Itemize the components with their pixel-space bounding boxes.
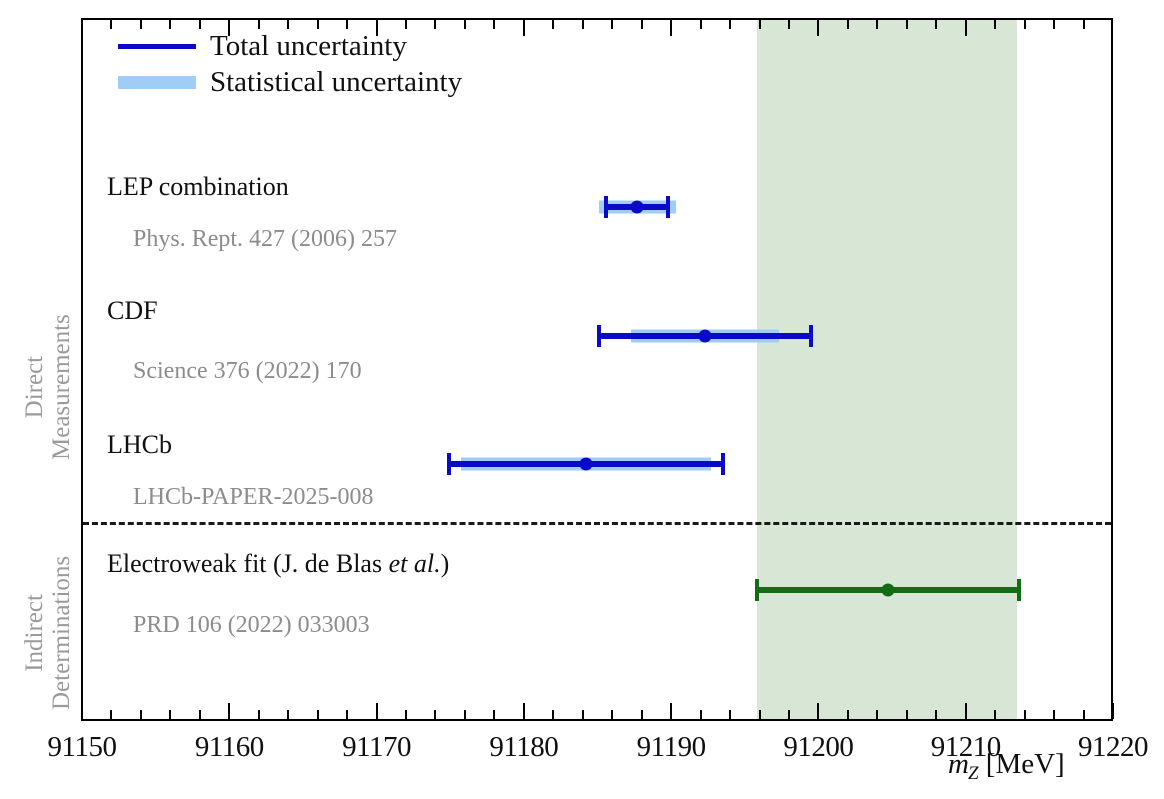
errorbar-cap-high-cdf [809,325,813,347]
errorbar-cap-low-ewfit [755,579,759,601]
minor-tick-bottom [258,710,260,719]
data-point-marker-lep[interactable] [631,201,644,214]
minor-tick-top [759,20,761,29]
major-tick-top [670,20,672,36]
x-tick-label: 91200 [783,731,853,764]
minor-tick-top [935,20,937,29]
minor-tick-bottom [759,710,761,719]
measurement-reference-ewfit: PRD 106 (2022) 033003 [133,612,370,639]
minor-tick-top [611,20,613,29]
minor-tick-bottom [876,710,878,719]
minor-tick-bottom [317,710,319,719]
measurement-name-lhcb: LHCb [107,430,172,460]
major-tick-bottom [965,703,967,719]
minor-tick-bottom [405,710,407,719]
minor-tick-top [700,20,702,29]
minor-tick-bottom [641,710,643,719]
minor-tick-bottom [169,710,171,719]
minor-tick-top [641,20,643,29]
errorbar-cap-high-lhcb [721,453,725,475]
minor-tick-bottom [788,710,790,719]
errorbar-cap-low-cdf [597,325,601,347]
minor-tick-bottom [994,710,996,719]
minor-tick-bottom [464,710,466,719]
group-label-indirect-line2: Determinations [49,556,76,710]
minor-tick-top [1083,20,1085,29]
legend-band-swatch [118,76,196,89]
minor-tick-bottom [140,710,142,719]
x-tick-label: 91170 [342,731,411,764]
major-tick-bottom [1112,703,1114,719]
group-label-direct-line1: Direct [22,314,49,460]
minor-tick-top [110,20,112,29]
figure-canvas: 9115091160911709118091190912009121091220… [0,0,1164,799]
x-tick-label: 91190 [637,731,706,764]
group-label-direct: Direct Measurements [22,314,75,460]
minor-tick-bottom [1083,710,1085,719]
minor-tick-bottom [935,710,937,719]
measurement-name-lep: LEP combination [107,172,289,202]
group-divider [83,522,1111,525]
x-tick-label: 91150 [48,731,117,764]
major-tick-bottom [376,703,378,719]
x-tick-label: 91160 [195,731,264,764]
minor-tick-bottom [434,710,436,719]
errorbar-cap-low-lhcb [447,453,451,475]
minor-tick-top [847,20,849,29]
minor-tick-top [788,20,790,29]
major-tick-bottom [670,703,672,719]
x-tick-label: 91180 [489,731,558,764]
errorbar-cap-low-lep [604,196,608,218]
minor-tick-bottom [611,710,613,719]
ewfit-name-prefix: Electroweak fit (J. de Blas [107,549,389,578]
minor-tick-bottom [493,710,495,719]
total-uncertainty-line-icon [118,44,196,49]
minor-tick-bottom [700,710,702,719]
minor-tick-top [906,20,908,29]
major-tick-bottom [228,703,230,719]
legend-label-stat: Statistical uncertainty [210,66,462,99]
measurement-reference-cdf: Science 376 (2022) 170 [133,358,362,385]
data-point-marker-lhcb[interactable] [579,458,592,471]
ewfit-name-italic: et al. [389,549,441,578]
minor-tick-bottom [582,710,584,719]
legend-line-swatch [118,44,196,49]
minor-tick-bottom [847,710,849,719]
legend-entry-total: Total uncertainty [118,28,462,64]
minor-tick-bottom [346,710,348,719]
minor-tick-bottom [552,710,554,719]
statistical-uncertainty-band-icon [118,76,196,89]
major-tick-top [523,20,525,36]
minor-tick-bottom [729,710,731,719]
measurement-name-cdf: CDF [107,296,158,326]
minor-tick-bottom [287,710,289,719]
minor-tick-bottom [906,710,908,719]
x-tick-label: 91220 [1078,731,1148,764]
errorbar-cap-high-ewfit [1017,579,1021,601]
minor-tick-bottom [1053,710,1055,719]
minor-tick-bottom [199,710,201,719]
minor-tick-bottom [110,710,112,719]
axis-subscript: Z [968,763,979,784]
measurement-reference-lhcb: LHCb-PAPER-2025-008 [133,484,373,511]
minor-tick-top [493,20,495,29]
legend: Total uncertainty Statistical uncertaint… [118,28,462,100]
major-tick-top [817,20,819,36]
legend-entry-stat: Statistical uncertainty [118,64,462,100]
minor-tick-top [994,20,996,29]
measurement-reference-lep: Phys. Rept. 427 (2006) 257 [133,226,397,253]
major-tick-bottom [817,703,819,719]
minor-tick-top [1024,20,1026,29]
errorbar-cap-high-lep [666,196,670,218]
minor-tick-top [464,20,466,29]
minor-tick-top [729,20,731,29]
minor-tick-bottom [1024,710,1026,719]
major-tick-top [965,20,967,36]
measurement-name-ewfit: Electroweak fit (J. de Blas et al.) [107,549,449,579]
minor-tick-top [552,20,554,29]
minor-tick-top [1053,20,1055,29]
x-axis-title: mZ [MeV] [948,748,1065,785]
ewfit-name-suffix: ) [441,549,450,578]
minor-tick-top [876,20,878,29]
minor-tick-top [582,20,584,29]
data-point-marker-cdf[interactable] [699,330,712,343]
data-point-marker-ewfit[interactable] [881,584,894,597]
group-label-indirect-line1: Indirect [22,556,49,710]
axis-unit: [MeV] [986,748,1065,780]
group-label-direct-line2: Measurements [49,314,76,460]
group-label-indirect: Indirect Determinations [22,556,75,710]
legend-label-total: Total uncertainty [210,30,407,63]
axis-symbol: m [948,748,969,780]
major-tick-bottom [523,703,525,719]
major-tick-bottom [81,703,83,719]
